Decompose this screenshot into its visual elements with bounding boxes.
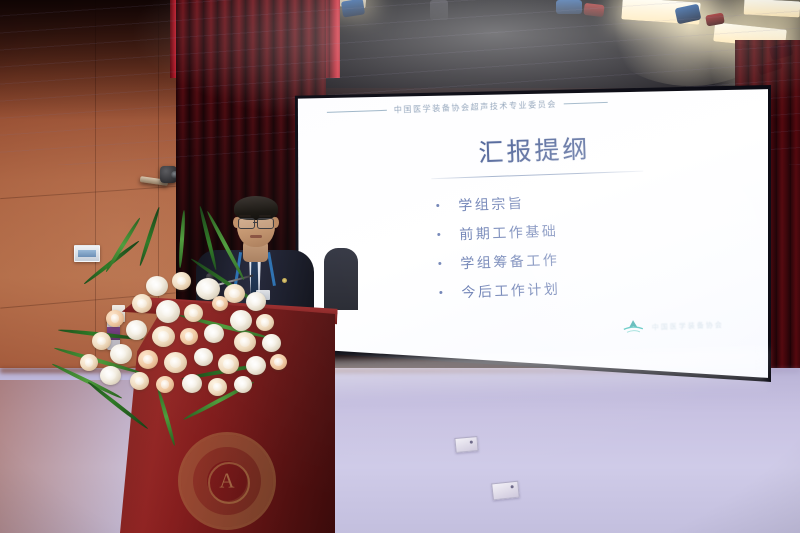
rose (212, 296, 228, 311)
rose (246, 292, 266, 311)
slide-bullet-list: 学组宗旨 前期工作基础 学组筹备工作 今后工作计划 (436, 180, 740, 307)
rose (146, 276, 168, 296)
floral-arrangement (48, 262, 358, 412)
rose (92, 332, 111, 350)
eyeglasses-icon (257, 218, 274, 229)
rose (126, 320, 147, 340)
rose (262, 334, 281, 352)
slide-subtitle: 中国医学装备协会超声技术专业委员会 (394, 98, 557, 115)
rose (180, 328, 198, 345)
rose (100, 366, 121, 385)
rose (172, 272, 191, 290)
rose (152, 326, 175, 347)
rose (256, 314, 274, 331)
projection-screen: 中国医学装备协会超声技术专业委员会 汇报提纲 学组宗旨 前期工作基础 学组筹备工… (296, 88, 768, 382)
ultrasound-society-logo-icon (622, 319, 644, 337)
rose (164, 352, 187, 373)
bullet-dot-icon (436, 204, 439, 207)
title-underline (431, 171, 643, 180)
rose (106, 310, 124, 327)
bullet-label: 学组筹备工作 (460, 249, 560, 273)
rose (204, 324, 224, 343)
bullet-dot-icon (439, 291, 442, 294)
header-rule-right (564, 101, 608, 104)
speaker-mouth (250, 235, 262, 238)
conference-hall-photo: 中国医学装备协会超声技术专业委员会 汇报提纲 学组宗旨 前期工作基础 学组筹备工… (0, 0, 800, 533)
rose (270, 354, 287, 370)
rose (138, 350, 158, 369)
rose (80, 354, 98, 371)
slide-title: 汇报提纲 (298, 123, 771, 176)
eyeglasses-icon (238, 218, 255, 229)
rose (234, 376, 252, 393)
rose (184, 304, 203, 322)
bullet-dot-icon (437, 233, 440, 236)
rose (110, 344, 132, 364)
eyeglasses-bridge (253, 222, 258, 223)
bullet-label: 学组宗旨 (458, 192, 525, 214)
rose (156, 300, 180, 323)
podium-emblem: A (178, 432, 276, 530)
bullet-label: 今后工作计划 (461, 278, 561, 302)
rose (132, 294, 152, 313)
wall-signage (74, 245, 100, 262)
rose (218, 354, 239, 374)
rose (194, 348, 213, 366)
bullet-label: 前期工作基础 (459, 220, 559, 244)
floor-outlet-plate (491, 481, 520, 501)
rose (156, 376, 174, 393)
rose (130, 372, 149, 390)
slide-footer-label: 中国医学装备协会 (652, 319, 724, 332)
speaker-eyebrow (259, 215, 271, 217)
header-rule-left (327, 109, 387, 112)
rose (182, 374, 202, 393)
slide-footer: 中国医学装备协会 (622, 316, 724, 337)
rose (234, 332, 256, 352)
podium-emblem-letter: A (219, 469, 234, 494)
rose (230, 310, 252, 331)
speaker-eyebrow (239, 215, 251, 217)
rose (208, 378, 227, 396)
bullet-dot-icon (438, 262, 441, 265)
floor-outlet-plate (454, 436, 478, 453)
rose (246, 356, 266, 375)
